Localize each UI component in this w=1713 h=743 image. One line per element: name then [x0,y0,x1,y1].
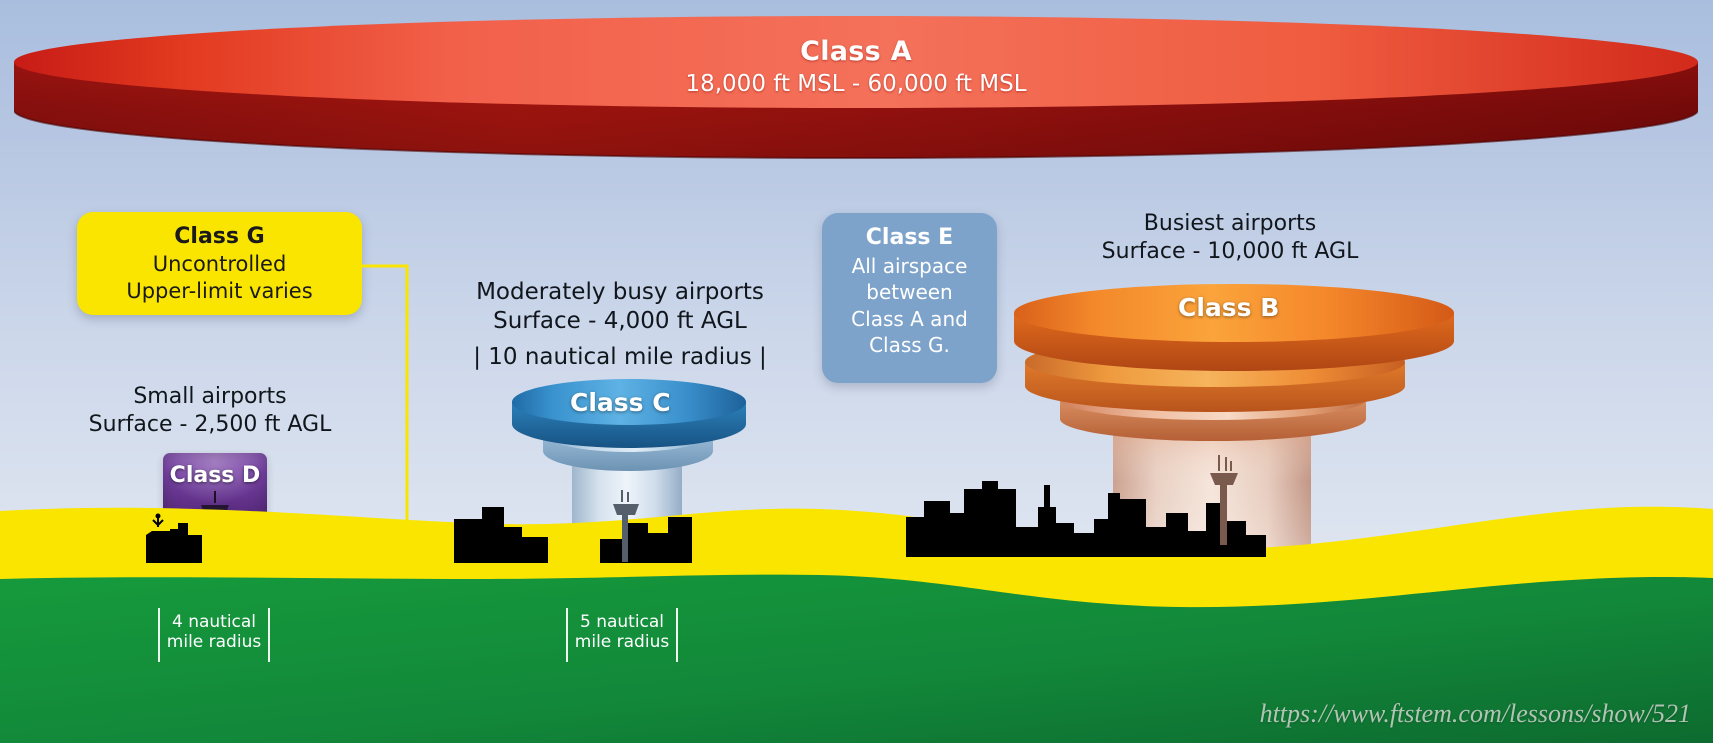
big-city-silhouette [900,473,1320,557]
radius-tick-right [268,608,270,662]
class-b-description: Busiest airports Surface - 10,000 ft AGL [1040,210,1420,266]
class-a-disk: Class A 18,000 ft MSL - 60,000 ft MSL [14,14,1698,174]
class-d-radius-caption: 4 nautical mile radius [158,612,270,653]
class-b-desc-line2: Surface - 10,000 ft AGL [1040,238,1420,266]
class-e-line3: Class A and [822,306,997,333]
class-b-tier-1 [1014,283,1454,373]
class-c-control-tower-icon [609,490,643,566]
class-c-description: Moderately busy airports Surface - 4,000… [440,278,800,372]
class-c-tier-1 [512,378,746,450]
class-c-radius-line1: 5 nautical [566,612,678,632]
class-e-line1: All airspace [822,253,997,280]
class-g-line2: Upper-limit varies [77,278,362,305]
radius-tick-right [676,608,678,662]
class-d-description: Small airports Surface - 2,500 ft AGL [50,383,370,439]
airspace-diagram: Class A 18,000 ft MSL - 60,000 ft MSL Cl… [0,0,1713,743]
class-c-desc-line2: Surface - 4,000 ft AGL [440,307,800,336]
class-b-control-tower-icon [1204,455,1244,549]
class-c-radius-caption: 5 nautical mile radius [566,612,678,653]
class-b-desc-line1: Busiest airports [1040,210,1420,238]
class-e-title: Class E [822,224,997,253]
source-url-watermark: https://www.ftstem.com/lessons/show/521 [1260,699,1691,729]
class-c-desc-line3: | 10 nautical mile radius | [440,343,800,372]
class-e-line2: between [822,279,997,306]
class-d-radius-line2: mile radius [158,632,270,652]
class-e-line4: Class G. [822,332,997,359]
class-g-title: Class G [77,223,362,251]
class-e-callout: Class E All airspace between Class A and… [822,213,997,383]
class-d-desc-line2: Surface - 2,500 ft AGL [50,411,370,439]
class-d-radius-line1: 4 nautical [158,612,270,632]
class-g-line1: Uncontrolled [77,251,362,278]
class-c-desc-line1: Moderately busy airports [440,278,800,307]
small-airport-silhouette [140,501,270,563]
radius-tick-left [158,608,160,662]
class-g-callout: Class G Uncontrolled Upper-limit varies [77,212,362,315]
mid-city-silhouette [450,493,700,563]
class-c-radius-line2: mile radius [566,632,678,652]
radius-tick-left [566,608,568,662]
class-d-desc-line1: Small airports [50,383,370,411]
